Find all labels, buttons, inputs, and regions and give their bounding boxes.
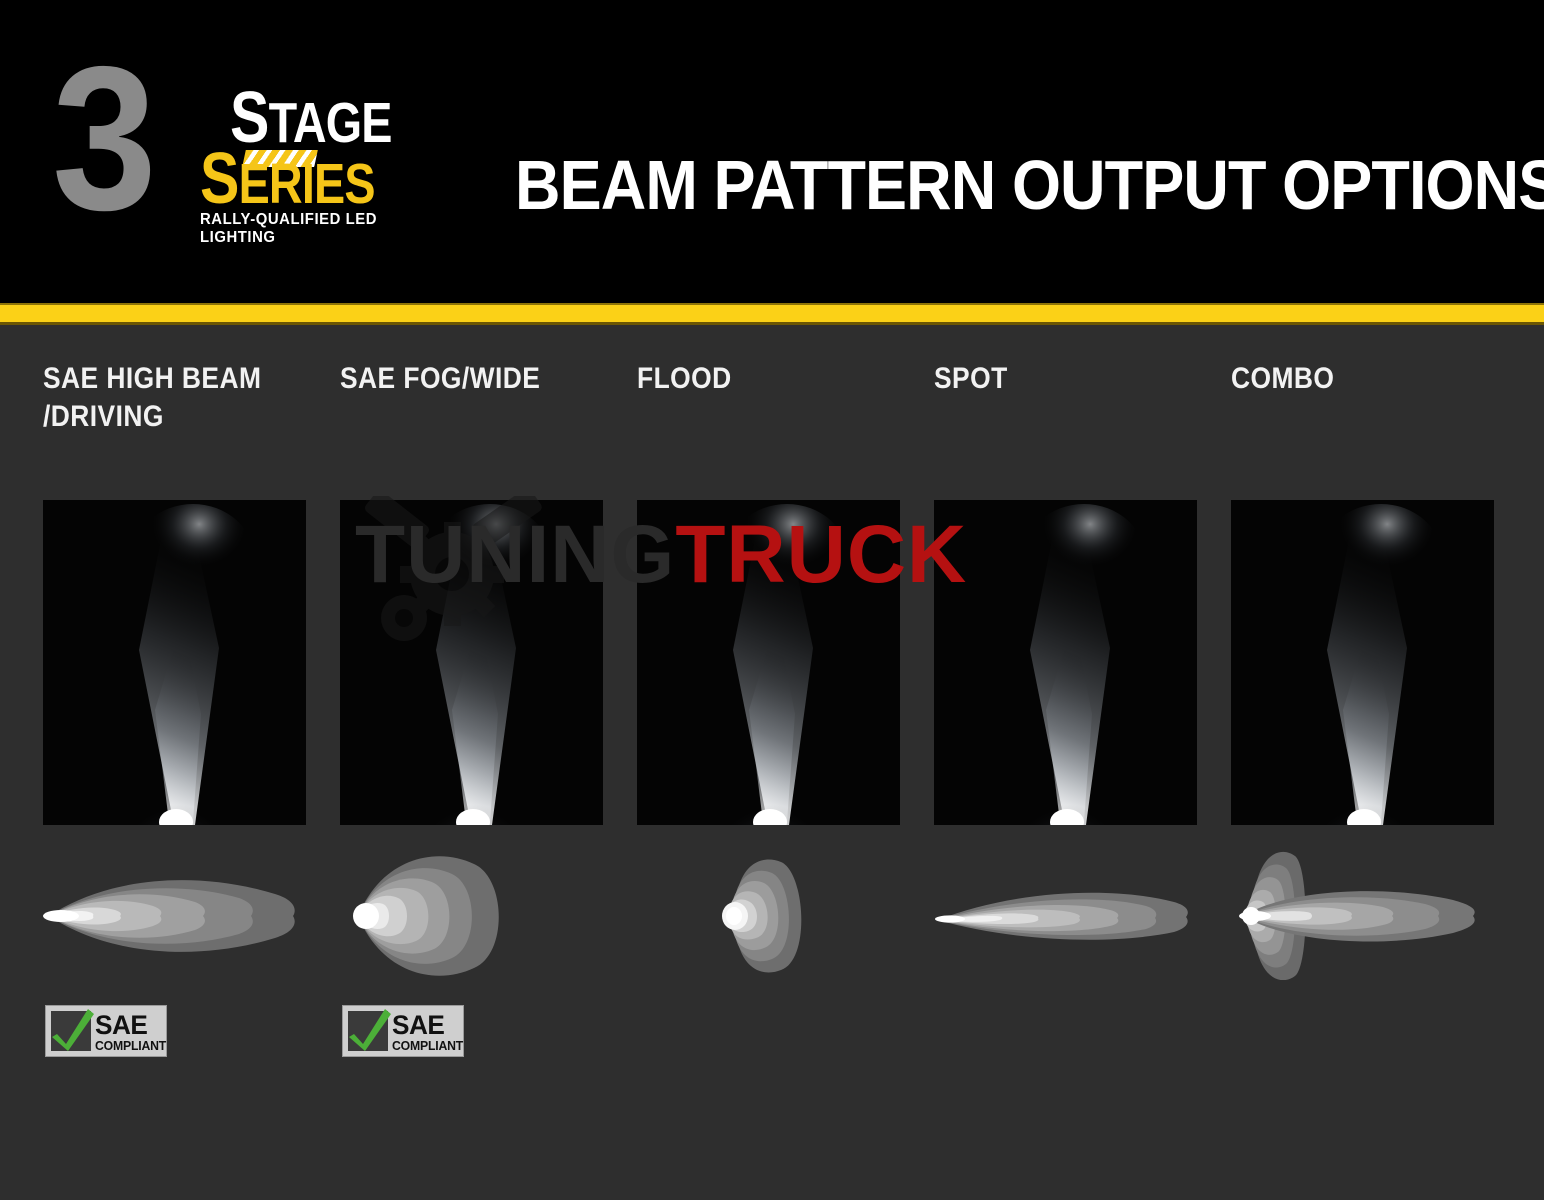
checkbox-box [348, 1011, 388, 1051]
sae-badge-line1: SAE [392, 1012, 462, 1039]
column-title-spot: SPOT [934, 360, 1180, 398]
beam-diagram-combo [1231, 850, 1495, 980]
beam-column-spot: SPOT [934, 330, 1198, 1200]
green-check-icon [47, 1004, 95, 1054]
sae-compliant-badge: SAE COMPLIANT [45, 1005, 167, 1057]
logo-numeral-3: 3 [52, 44, 150, 234]
beam-diagram-sae-high-beam-driving [43, 850, 307, 980]
accent-divider-bar [0, 303, 1544, 325]
column-title-combo: COMBO [1231, 360, 1477, 398]
sae-badge-text: SAE COMPLIANT [392, 1012, 465, 1053]
logo-tagline: RALLY-QUALIFIED LED LIGHTING [200, 211, 453, 247]
beam-column-combo: COMBO [1231, 330, 1495, 1200]
beam-column-sae-high-beam-driving: SAE HIGH BEAM/DRIVING [43, 330, 307, 1200]
sae-badge-line2: COMPLIANT [95, 1040, 166, 1053]
logo-word-series: SERIES [200, 151, 375, 213]
beam-photo-flood [637, 500, 900, 825]
column-title-sae-high-beam-driving: SAE HIGH BEAM/DRIVING [43, 360, 289, 436]
column-title-flood: FLOOD [637, 360, 883, 398]
beam-columns-grid: SAE HIGH BEAM/DRIVING [0, 330, 1544, 1200]
beam-column-flood: FLOOD [637, 330, 901, 1200]
beam-photo-sae-fog-wide [340, 500, 603, 825]
beam-diagram-spot [934, 850, 1198, 980]
page-title: BEAM PATTERN OUTPUT OPTIONS [515, 150, 1544, 220]
beam-column-sae-fog-wide: SAE FOG/WIDE [340, 330, 604, 1200]
beam-photo-sae-high-beam-driving [43, 500, 306, 825]
sae-badge-line2: COMPLIANT [392, 1040, 463, 1053]
logo-word-stage: STAGE [230, 90, 392, 152]
logo-series-rest: ERIES [239, 152, 375, 216]
sae-badge-line1: SAE [95, 1012, 165, 1039]
beam-diagram-flood [637, 850, 901, 980]
logo-stage-rest: TAGE [269, 91, 392, 155]
logo-series-cap: S [200, 139, 239, 219]
sae-badge-text: SAE COMPLIANT [95, 1012, 168, 1053]
stage-series-logo: 3 STAGE SERIES RALLY-QUALIFIED LED LIGHT… [52, 48, 472, 238]
column-title-sae-fog-wide: SAE FOG/WIDE [340, 360, 586, 398]
beam-photo-spot [934, 500, 1197, 825]
beam-pattern-infographic: 3 STAGE SERIES RALLY-QUALIFIED LED LIGHT… [0, 0, 1544, 1200]
checkbox-box [51, 1011, 91, 1051]
green-check-icon [344, 1004, 392, 1054]
sae-compliant-badge: SAE COMPLIANT [342, 1005, 464, 1057]
beam-photo-combo [1231, 500, 1494, 825]
beam-diagram-sae-fog-wide [340, 850, 604, 980]
header-bar: 3 STAGE SERIES RALLY-QUALIFIED LED LIGHT… [0, 0, 1544, 303]
